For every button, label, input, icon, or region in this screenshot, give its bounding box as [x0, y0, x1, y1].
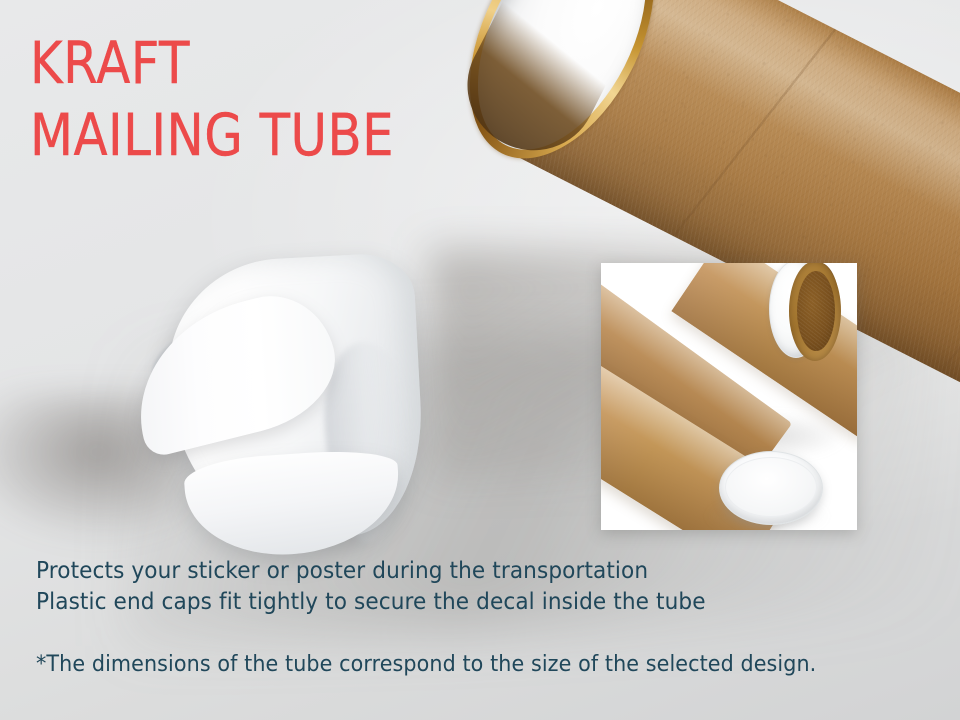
poster-bottom-curl: [183, 447, 403, 562]
poster-curled-tip: [117, 283, 348, 459]
inset-tube-front-interior: [797, 271, 835, 351]
inset-product-photo: [601, 263, 857, 530]
inset-loose-cap-lip: [725, 457, 817, 517]
poster-roll-shading: [319, 339, 417, 544]
inset-background: [601, 263, 857, 530]
feature-description: Protects your sticker or poster during t…: [36, 556, 706, 618]
banner-title: KRAFT MAILING TUBE: [30, 36, 453, 163]
dimensions-footnote: *The dimensions of the tube correspond t…: [36, 652, 816, 677]
poster-sheet: [163, 252, 427, 545]
corner-shadow: [0, 392, 190, 542]
tube-interior-shadow: [446, 1, 619, 172]
title-line-2: MAILING TUBE: [30, 108, 394, 164]
tube-mouth-opening: [443, 0, 680, 177]
title-line-1: KRAFT: [30, 36, 394, 92]
product-banner: KRAFT MAILING TUBE Protects your sticker…: [0, 0, 960, 720]
feature-line-2: Plastic end caps fit tightly to secure t…: [36, 587, 706, 618]
tube-gold-rim: [432, 0, 692, 189]
rolled-poster: [130, 258, 460, 548]
feature-line-1: Protects your sticker or poster during t…: [36, 556, 706, 587]
poster-underside-shade: [143, 300, 299, 384]
